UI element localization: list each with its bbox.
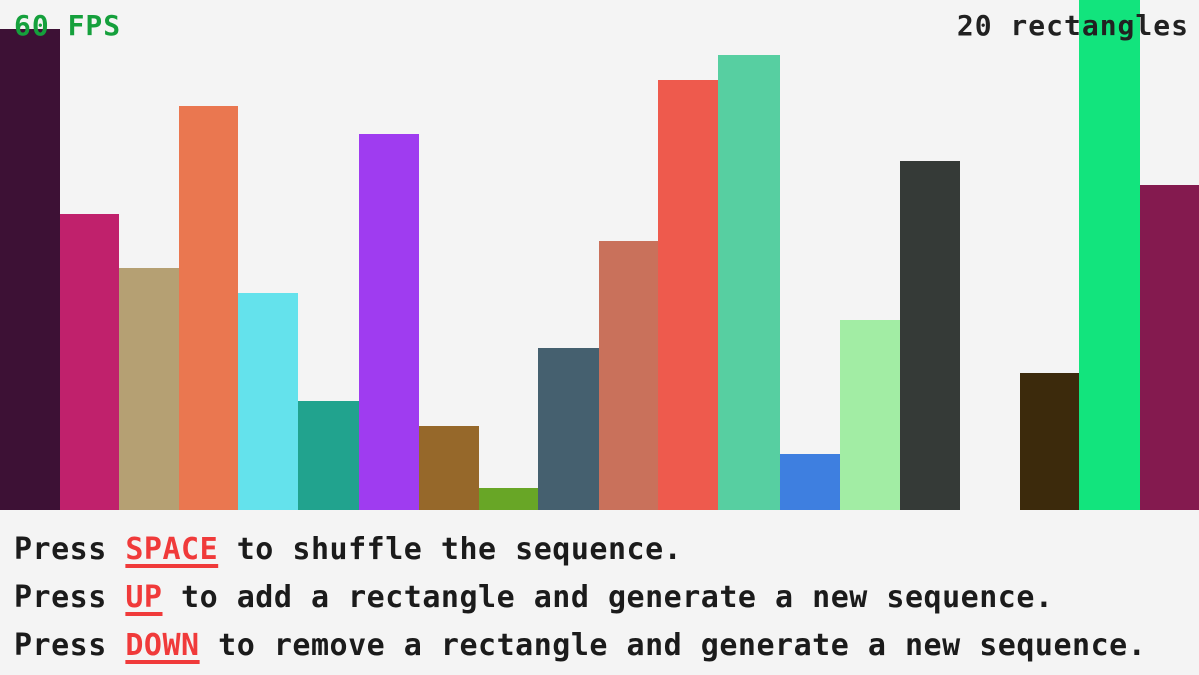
bar-rectangle bbox=[718, 55, 780, 510]
bar-rectangle bbox=[0, 29, 60, 510]
instructions-panel: Press SPACE to shuffle the sequence. Pre… bbox=[0, 510, 1199, 675]
key-space[interactable]: SPACE bbox=[125, 532, 218, 567]
bar-rectangle bbox=[780, 454, 840, 510]
bar-rectangle bbox=[840, 320, 900, 510]
bar-chart-canvas[interactable] bbox=[0, 0, 1199, 510]
bar-rectangle bbox=[538, 348, 599, 510]
fps-counter: 60 FPS bbox=[14, 12, 121, 40]
bar-rectangle bbox=[298, 401, 359, 510]
key-up[interactable]: UP bbox=[125, 580, 162, 615]
rectangle-count-label: 20 rectangles bbox=[957, 12, 1189, 40]
bar-rectangle bbox=[179, 106, 238, 510]
bar-rectangle bbox=[599, 241, 658, 510]
bar-rectangle bbox=[1140, 185, 1199, 510]
bar-rectangle bbox=[1020, 373, 1079, 510]
instruction-line-shuffle: Press SPACE to shuffle the sequence. bbox=[14, 526, 1199, 574]
bar-rectangle bbox=[1079, 0, 1140, 510]
instruction-prefix: Press bbox=[14, 628, 125, 663]
bar-rectangle bbox=[60, 214, 119, 510]
instruction-suffix: to add a rectangle and generate a new se… bbox=[163, 580, 1054, 615]
rectangle-sequence-app: 60 FPS 20 rectangles Press SPACE to shuf… bbox=[0, 0, 1199, 675]
bar-rectangle bbox=[119, 268, 179, 510]
bar-rectangle bbox=[658, 80, 718, 510]
bar-rectangle bbox=[419, 426, 479, 510]
bar-rectangle bbox=[900, 161, 960, 510]
instruction-line-add: Press UP to add a rectangle and generate… bbox=[14, 574, 1199, 622]
instruction-suffix: to remove a rectangle and generate a new… bbox=[200, 628, 1147, 663]
instruction-prefix: Press bbox=[14, 532, 125, 567]
instruction-prefix: Press bbox=[14, 580, 125, 615]
instruction-suffix: to shuffle the sequence. bbox=[218, 532, 682, 567]
bar-rectangle bbox=[238, 293, 298, 510]
key-down[interactable]: DOWN bbox=[125, 628, 199, 663]
bar-rectangle bbox=[479, 488, 538, 510]
bar-rectangle bbox=[359, 134, 419, 510]
instruction-line-remove: Press DOWN to remove a rectangle and gen… bbox=[14, 622, 1199, 670]
